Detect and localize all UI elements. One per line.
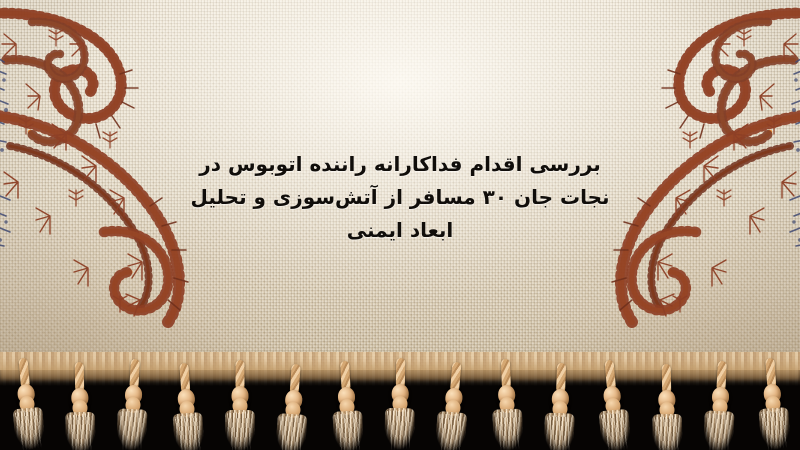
title-line-3: ابعاد ایمنی	[140, 214, 660, 247]
title-line-2: نجات جان ۳۰ مسافر از آتش‌سوزی و تحلیل	[140, 181, 660, 214]
slide-title: بررسی اقدام فداکارانه راننده اتوبوس در ن…	[140, 148, 660, 247]
title-line-1: بررسی اقدام فداکارانه راننده اتوبوس در	[140, 148, 660, 181]
slide-canvas: بررسی اقدام فداکارانه راننده اتوبوس در ن…	[0, 0, 800, 450]
black-background-band	[0, 370, 800, 450]
